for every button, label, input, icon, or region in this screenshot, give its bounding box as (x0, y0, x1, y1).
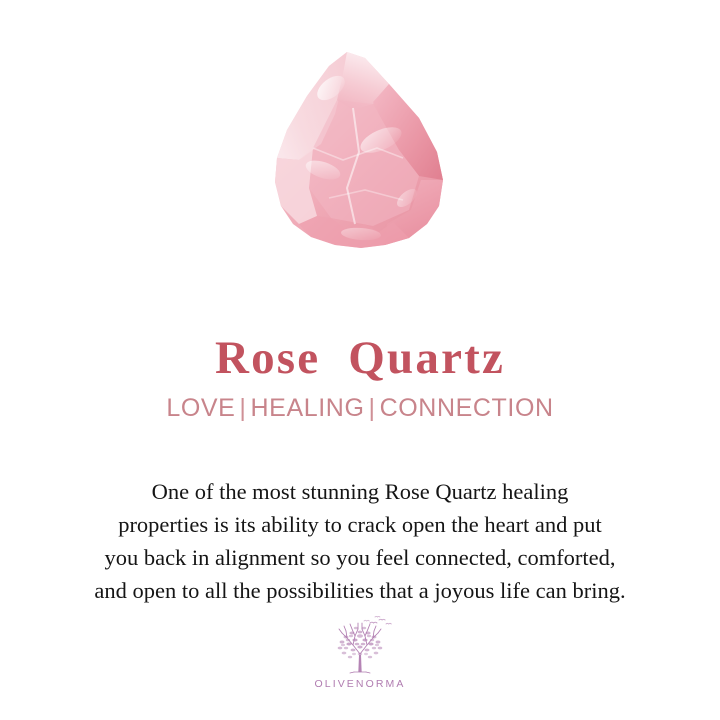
rose-quartz-crystal-image (269, 48, 451, 253)
brand-logo: OLIVENORMA (0, 614, 720, 690)
description-line: you back in alignment so you feel connec… (18, 541, 702, 574)
keyword-connection: CONNECTION (380, 394, 554, 422)
hero-image-container (0, 0, 720, 262)
tree-of-life-icon (325, 614, 395, 676)
keyword-tagline: LOVE|HEALING|CONNECTION (0, 395, 720, 423)
tree-trunk (358, 655, 361, 672)
keyword-love: LOVE (166, 394, 235, 422)
description-line: properties is its ability to crack open … (18, 508, 702, 541)
description-line: One of the most stunning Rose Quartz hea… (18, 475, 702, 508)
birds-icon (364, 616, 391, 624)
description-line: and open to all the possibilities that a… (18, 574, 702, 607)
tree-canopy (338, 627, 383, 659)
keyword-healing: HEALING (251, 394, 365, 422)
description-paragraph: One of the most stunning Rose Quartz hea… (18, 475, 702, 607)
product-info-card: Rose Quartz LOVE|HEALING|CONNECTION One … (0, 0, 720, 720)
keyword-separator-1: | (235, 394, 250, 422)
brand-wordmark: OLIVENORMA (314, 678, 405, 690)
page-title: Rose Quartz (0, 334, 720, 383)
keyword-separator-2: | (365, 394, 380, 422)
